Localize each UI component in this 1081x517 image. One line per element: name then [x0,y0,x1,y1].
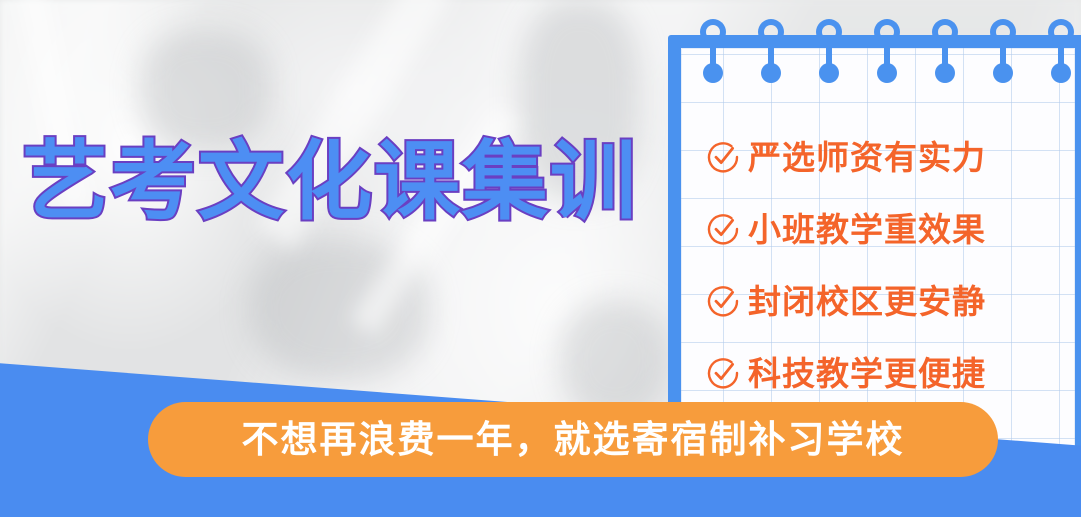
spiral-ring-icon [1048,35,1074,61]
circle-check-icon [706,212,740,246]
list-item: 小班教学重效果 [706,193,1081,265]
list-item: 科技教学更便捷 [706,337,1081,409]
spiral-ring-icon [758,35,784,61]
list-item-label: 科技教学更便捷 [748,357,986,390]
circle-check-icon [706,356,740,390]
page-title: 艺考文化课集训 [22,139,638,225]
circle-check-icon [706,140,740,174]
spiral-ring-icon [700,35,726,61]
spiral-ring-icon [932,35,958,61]
notepad-card: 严选师资有实力 小班教学重效果 封闭校区更安静 [668,35,1081,448]
list-item-label: 严选师资有实力 [748,141,986,174]
list-item-label: 封闭校区更安静 [748,285,986,318]
circle-check-icon [706,284,740,318]
promo-banner: 严选师资有实力 小班教学重效果 封闭校区更安静 [0,0,1081,517]
spiral-ring-icon [816,35,842,61]
spiral-ring-icon [874,35,900,61]
cta-pill[interactable]: 不想再浪费一年，就选寄宿制补习学校 [148,402,998,477]
spiral-ring-icon [990,35,1016,61]
list-item: 严选师资有实力 [706,121,1081,193]
feature-list: 严选师资有实力 小班教学重效果 封闭校区更安静 [706,121,1081,409]
cta-label: 不想再浪费一年，就选寄宿制补习学校 [242,421,905,458]
list-item-label: 小班教学重效果 [748,213,986,246]
list-item: 封闭校区更安静 [706,265,1081,337]
